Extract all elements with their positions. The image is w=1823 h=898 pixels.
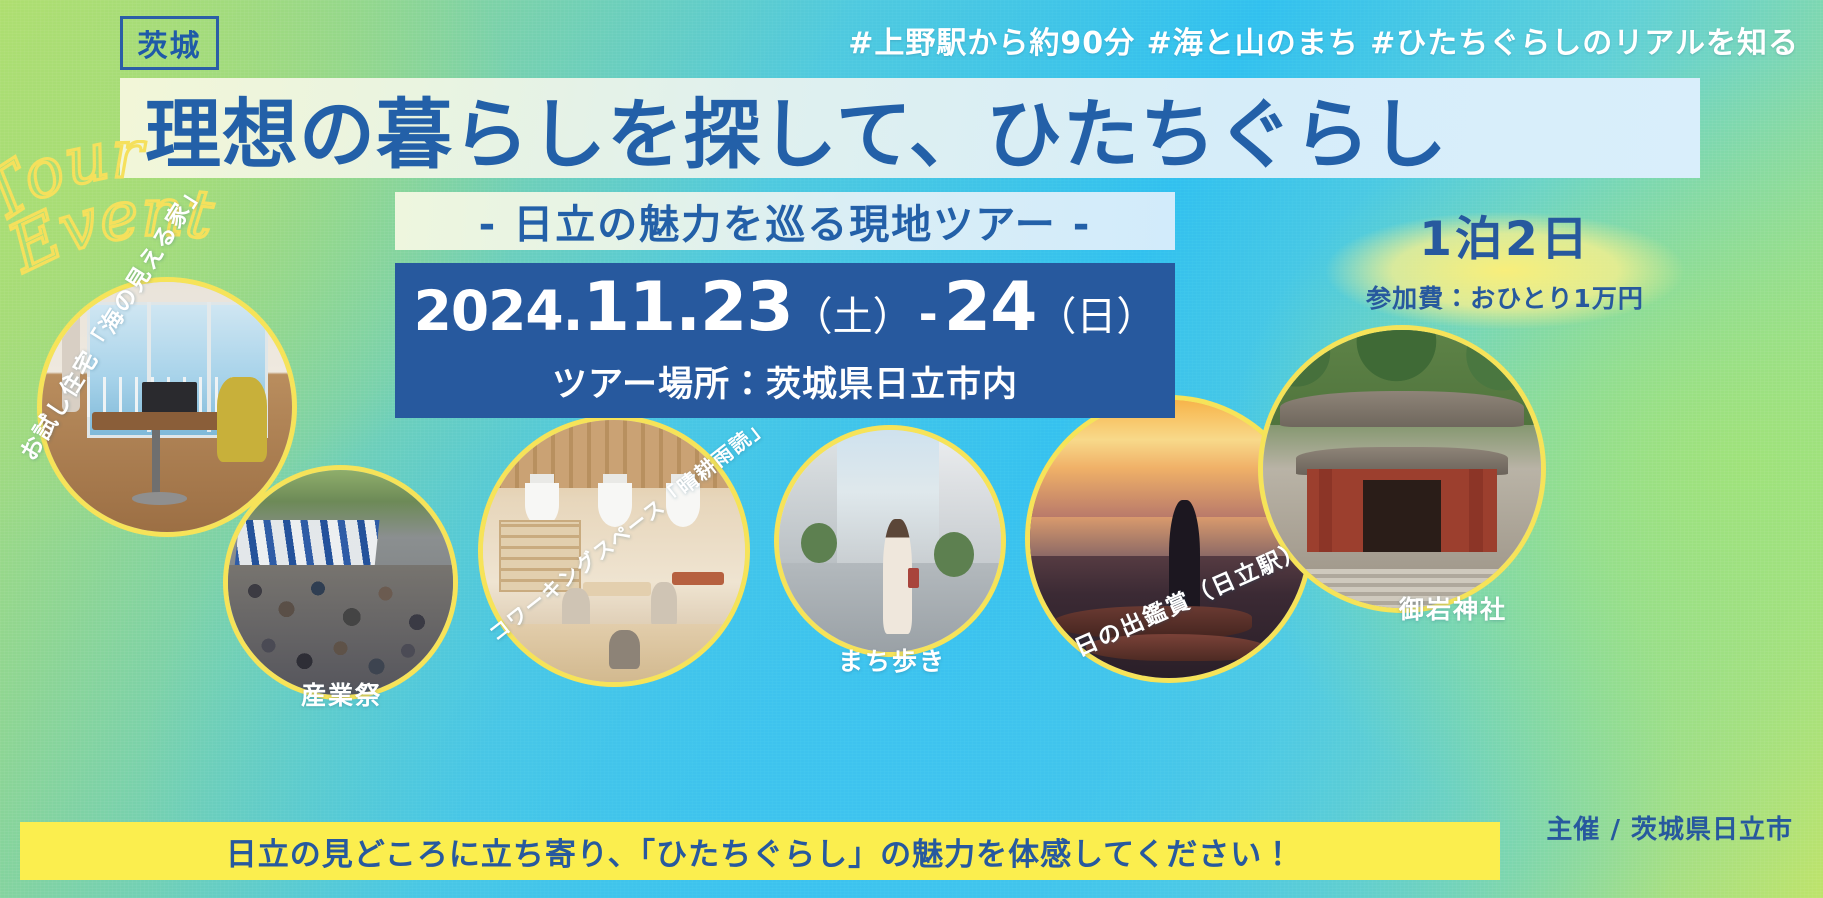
caption-town-walk: まち歩き	[838, 642, 946, 678]
photo-industry-fair	[228, 470, 453, 695]
event-month-day: 11.23	[583, 274, 793, 342]
page-title: 理想の暮らしを探して、ひたちぐらし	[145, 78, 1685, 178]
event-weekday-2: （日）	[1036, 297, 1156, 337]
bottom-message-banner: 日立の見どころに立ち寄り、「ひたちぐらし」の魅力を体感してください！	[20, 822, 1500, 880]
hashtag-line: #上野駅から約90分 #海と山のまち #ひたちぐらしのリアルを知る	[848, 18, 1799, 62]
subtitle-text: - 日立の魅力を巡る現地ツアー -	[479, 192, 1092, 250]
subtitle-bar: - 日立の魅力を巡る現地ツアー -	[395, 192, 1175, 250]
bottom-message-text: 日立の見どころに立ち寄り、「ひたちぐらし」の魅力を体感してください！	[226, 829, 1294, 874]
prefecture-badge-label: 茨城	[138, 21, 202, 65]
event-place: ツアー場所：茨城県日立市内	[552, 356, 1018, 407]
participation-fee: 参加費：おひとり1万円	[1245, 279, 1765, 315]
organizer-label: 主催 / 茨城県日立市	[1546, 809, 1793, 846]
date-separator: -	[913, 291, 944, 337]
event-date-line: 2024. 11.23 （土） - 24 （日）	[414, 274, 1157, 342]
stay-info: 1泊2日 参加費：おひとり1万円	[1245, 200, 1765, 315]
event-date-block: 2024. 11.23 （土） - 24 （日） ツアー場所：茨城県日立市内	[395, 263, 1175, 418]
caption-industry-fair: 産業祭	[301, 676, 382, 712]
photo-oiwa-shrine	[1263, 330, 1541, 608]
stay-duration: 1泊2日	[1245, 200, 1765, 269]
caption-oiwa-shrine: 御岩神社	[1399, 590, 1507, 626]
photo-town-walk	[779, 430, 1001, 652]
event-year: 2024.	[414, 284, 583, 339]
event-end-day: 24	[944, 274, 1037, 342]
prefecture-badge: 茨城	[120, 16, 219, 70]
poster-canvas: 茨城 #上野駅から約90分 #海と山のまち #ひたちぐらしのリアルを知る 理想の…	[0, 0, 1823, 898]
event-weekday-1: （土）	[793, 297, 913, 337]
